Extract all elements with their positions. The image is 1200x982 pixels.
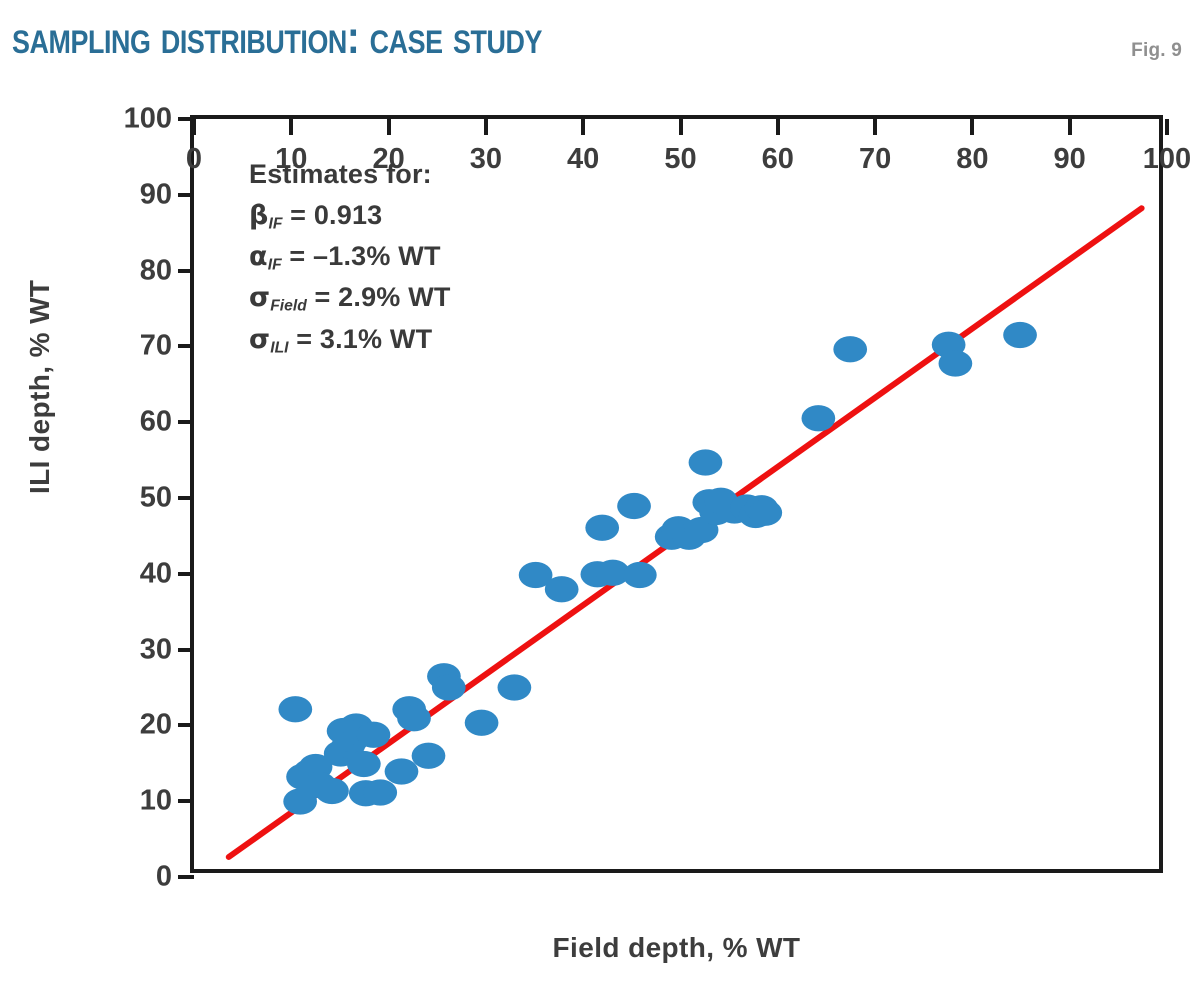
- y-tick-mark: [178, 875, 194, 879]
- annotation-line: σField = 2.9% WT: [249, 277, 451, 318]
- scatter-point: [585, 515, 619, 541]
- scatter-point: [347, 751, 381, 777]
- y-tick-mark: [178, 799, 194, 803]
- annotation-line: βIF = 0.913: [249, 195, 451, 236]
- annotation-symbol: σ: [249, 282, 270, 313]
- annotation-value: = –1.3% WT: [282, 241, 441, 271]
- scatter-point: [617, 493, 651, 519]
- plot-area: 0102030405060708090100 01020304050607080…: [190, 115, 1163, 873]
- annotation-subscript: IF: [268, 257, 282, 274]
- annotation-symbol: σ: [249, 324, 270, 355]
- y-tick-mark: [178, 344, 194, 348]
- scatter-point: [623, 562, 657, 588]
- x-tick-mark: [1165, 119, 1169, 135]
- y-tick-mark: [178, 723, 194, 727]
- scatter-point: [498, 674, 532, 700]
- scatter-point: [357, 722, 391, 748]
- y-tick-label: 30: [140, 633, 172, 666]
- scatter-point: [465, 710, 499, 736]
- annotation-line: αIF = –1.3% WT: [249, 236, 451, 277]
- y-tick-label: 40: [140, 557, 172, 590]
- chart-container: 0102030405060708090100 01020304050607080…: [0, 0, 1200, 982]
- scatter-point: [385, 758, 419, 784]
- annotation-value: = 0.913: [282, 200, 382, 230]
- y-tick-mark: [178, 193, 194, 197]
- y-tick-mark: [178, 269, 194, 273]
- y-tick-label: 20: [140, 709, 172, 742]
- y-tick-label: 70: [140, 330, 172, 363]
- scatter-point: [412, 743, 446, 769]
- annotation-line: σILI = 3.1% WT: [249, 319, 451, 360]
- scatter-point: [801, 405, 835, 431]
- annotation-line-list: βIF = 0.913αIF = –1.3% WTσField = 2.9% W…: [249, 195, 451, 360]
- y-tick-mark: [178, 496, 194, 500]
- y-tick-label: 0: [156, 861, 172, 894]
- y-tick-mark: [178, 648, 194, 652]
- y-tick-mark: [178, 572, 194, 576]
- y-axis-title: ILI depth, % WT: [24, 280, 56, 494]
- x-axis-title: Field depth, % WT: [190, 932, 1163, 964]
- scatter-point: [833, 336, 867, 362]
- scatter-point: [397, 705, 431, 731]
- scatter-point: [939, 350, 973, 376]
- scatter-point: [1003, 322, 1037, 348]
- scatter-point: [363, 779, 397, 805]
- y-tick-mark: [178, 420, 194, 424]
- scatter-point: [689, 449, 723, 475]
- y-tick-label: 90: [140, 178, 172, 211]
- annotation-subscript: IF: [269, 215, 283, 232]
- estimates-annotation: Estimates for: βIF = 0.913αIF = –1.3% WT…: [249, 154, 451, 360]
- y-tick-label: 60: [140, 406, 172, 439]
- y-tick-label: 10: [140, 785, 172, 818]
- y-tick-label: 50: [140, 482, 172, 515]
- annotation-value: = 3.1% WT: [289, 324, 433, 354]
- annotation-symbol: β: [249, 200, 269, 231]
- scatter-point: [748, 500, 782, 526]
- y-tick-label: 80: [140, 254, 172, 287]
- scatter-point: [315, 778, 349, 804]
- annotation-subscript: ILI: [270, 339, 288, 356]
- scatter-point: [545, 576, 579, 602]
- annotation-heading: Estimates for:: [249, 154, 451, 195]
- y-tick-label: 100: [124, 103, 172, 136]
- annotation-subscript: Field: [270, 298, 307, 315]
- annotation-symbol: α: [249, 241, 268, 272]
- scatter-point: [278, 696, 312, 722]
- scatter-point: [432, 674, 466, 700]
- annotation-value: = 2.9% WT: [307, 282, 451, 312]
